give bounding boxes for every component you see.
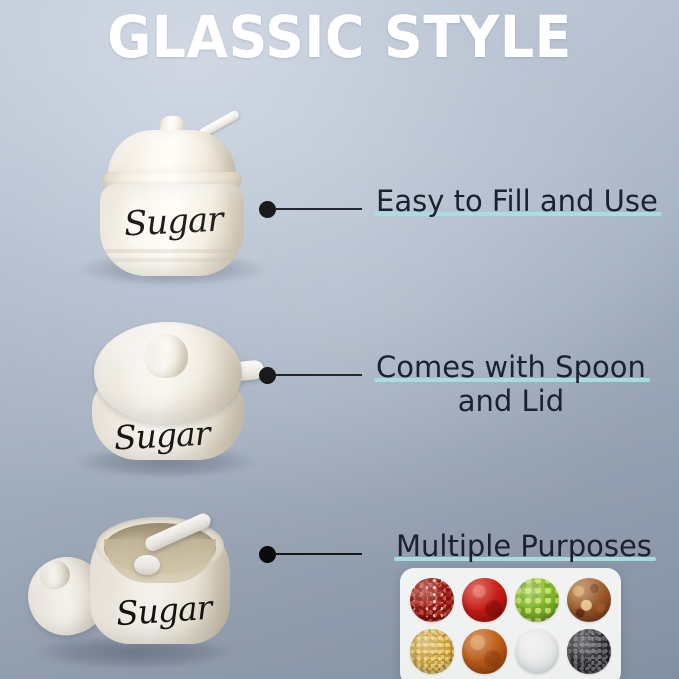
spoon-bowl — [134, 555, 160, 575]
product-image-jar-open: Sugar — [28, 505, 258, 670]
feature-text-line: and Lid — [376, 384, 646, 418]
callout-leader-line — [276, 208, 362, 210]
product-image-jar-closed-front: Sugar — [78, 110, 268, 285]
callout-dot-icon — [259, 367, 276, 384]
lid-highlight — [120, 340, 150, 380]
food-sample-grid — [410, 578, 611, 674]
food-sample-red-sauce — [462, 578, 506, 622]
callout-dot-icon — [259, 201, 276, 218]
food-sample-cell — [515, 629, 559, 673]
feature-text-line: Multiple Purposes — [396, 529, 652, 563]
product-feature-image: GLASSIC STYLE Sugar Sugar — [0, 0, 679, 679]
jar-label-text: Sugar — [113, 414, 210, 458]
food-sample-paprika-powder — [462, 629, 506, 673]
food-sample-cell — [462, 578, 506, 622]
food-sample-cell — [410, 629, 454, 673]
feature-text-line: Comes with Spoon — [376, 350, 646, 384]
food-sample-chili-flakes — [410, 578, 454, 622]
product-image-jar-closed-top: Sugar — [72, 320, 277, 480]
food-sample-nuts-dried-fruit — [567, 578, 611, 622]
food-sample-cell — [567, 578, 611, 622]
feature-text: Comes with Spoon and Lid — [376, 350, 646, 418]
food-sample-matcha-powder — [515, 578, 559, 622]
food-sample-cell — [567, 629, 611, 673]
food-sample-white-sugar — [515, 629, 559, 673]
feature-callout-comes-with-spoon-and-lid: Comes with Spoon and Lid — [259, 367, 646, 418]
jar-label-text: Sugar — [115, 588, 213, 634]
food-sample-millet-seeds — [410, 629, 454, 673]
feature-text: Multiple Purposes — [396, 529, 652, 563]
feature-callout-multiple-purposes: Multiple Purposes — [259, 546, 652, 563]
page-title: GLASSIC STYLE — [0, 6, 679, 68]
feature-callout-easy-to-fill: Easy to Fill and Use — [259, 201, 658, 218]
food-sample-cell — [515, 578, 559, 622]
feature-text: Easy to Fill and Use — [376, 184, 658, 218]
callout-dot-icon — [259, 546, 276, 563]
food-sample-cell — [410, 578, 454, 622]
jar-label-text: Sugar — [123, 199, 223, 244]
feature-text-line: Easy to Fill and Use — [376, 184, 658, 218]
food-sample-panel — [400, 568, 621, 679]
callout-leader-line — [276, 374, 362, 376]
callout-leader-line — [276, 553, 362, 555]
lid-knob — [144, 334, 188, 378]
jar-rib — [108, 258, 236, 262]
food-sample-black-sesame — [567, 629, 611, 673]
jar-rib — [105, 249, 239, 253]
food-sample-cell — [462, 629, 506, 673]
